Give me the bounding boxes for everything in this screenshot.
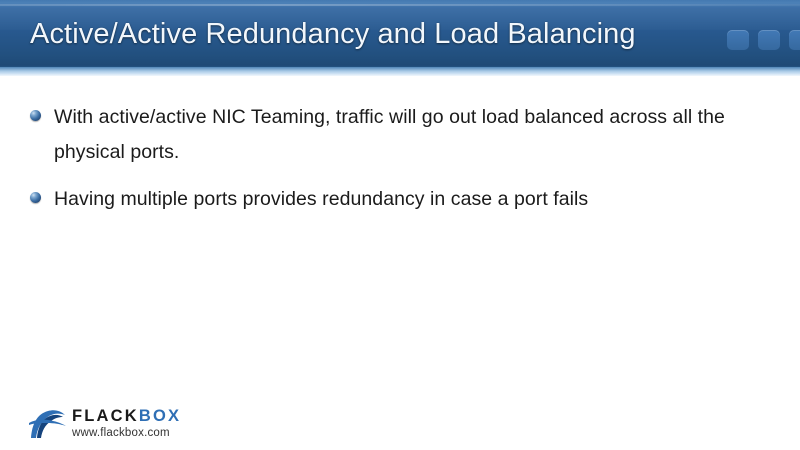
decorative-block-1 [727, 30, 749, 50]
presentation-slide: Active/Active Redundancy and Load Balanc… [0, 0, 800, 450]
logo-wordmark-dark: FLACK [72, 407, 139, 425]
header-bottom-glow [0, 67, 800, 76]
flackbox-wave-icon [28, 404, 68, 442]
bullet-sphere-icon [30, 192, 41, 203]
slide-header-banner: Active/Active Redundancy and Load Balanc… [0, 0, 800, 76]
logo-url: www.flackbox.com [72, 426, 181, 440]
logo-wordmark-accent: BOX [139, 407, 181, 425]
list-item: With active/active NIC Teaming, traffic … [30, 100, 775, 170]
header-decorative-blocks [727, 30, 800, 50]
logo-wordmark: FLACKBOX [72, 407, 181, 425]
page-title: Active/Active Redundancy and Load Balanc… [30, 14, 636, 54]
decorative-block-2 [758, 30, 780, 50]
logo-text-block: FLACKBOX www.flackbox.com [72, 407, 181, 440]
slide-body-content: With active/active NIC Teaming, traffic … [30, 100, 775, 229]
header-top-highlight-line [0, 4, 800, 6]
list-item: Having multiple ports provides redundanc… [30, 182, 775, 217]
bullet-text: With active/active NIC Teaming, traffic … [54, 100, 775, 170]
bullet-text: Having multiple ports provides redundanc… [54, 182, 588, 217]
decorative-block-3 [789, 30, 800, 50]
bullet-sphere-icon [30, 110, 41, 121]
flackbox-logo: FLACKBOX www.flackbox.com [28, 404, 181, 442]
